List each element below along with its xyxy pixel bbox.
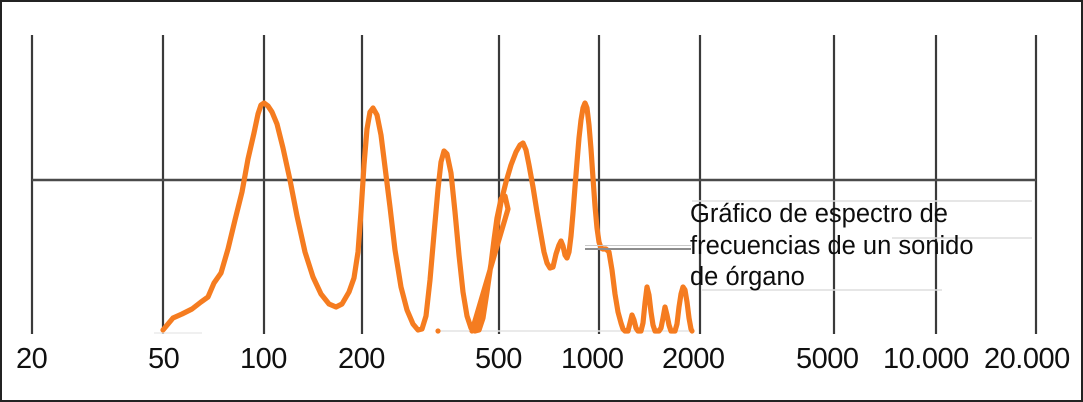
callout-line-2: frecuencias de un sonido: [690, 231, 1035, 263]
xtick-label-5000: 5000: [796, 343, 859, 375]
xtick-label-50: 50: [148, 343, 179, 375]
xtick-label-200: 200: [338, 343, 385, 375]
leader-rule-top: [585, 245, 691, 246]
xtick-label-2000: 2000: [662, 343, 725, 375]
xtick-label-20: 20: [16, 343, 47, 375]
callout-line-1: Gráfico de espectro de: [690, 199, 1035, 231]
leader-rule-bottom: [585, 248, 691, 250]
xtick-label-100: 100: [240, 343, 287, 375]
callout-line-3: de órgano: [690, 262, 1035, 294]
spectrum-figure: Gráfico de espectro de frecuencias de un…: [0, 0, 1083, 402]
callout-leader-line: [585, 245, 691, 251]
spectrum-curve: [163, 103, 692, 331]
xtick-label-10000: 10.000: [883, 343, 969, 375]
xtick-label-20000: 20.000: [984, 343, 1070, 375]
xtick-label-1000: 1000: [561, 343, 624, 375]
xtick-label-500: 500: [475, 343, 522, 375]
callout-label: Gráfico de espectro de frecuencias de un…: [690, 199, 1035, 294]
